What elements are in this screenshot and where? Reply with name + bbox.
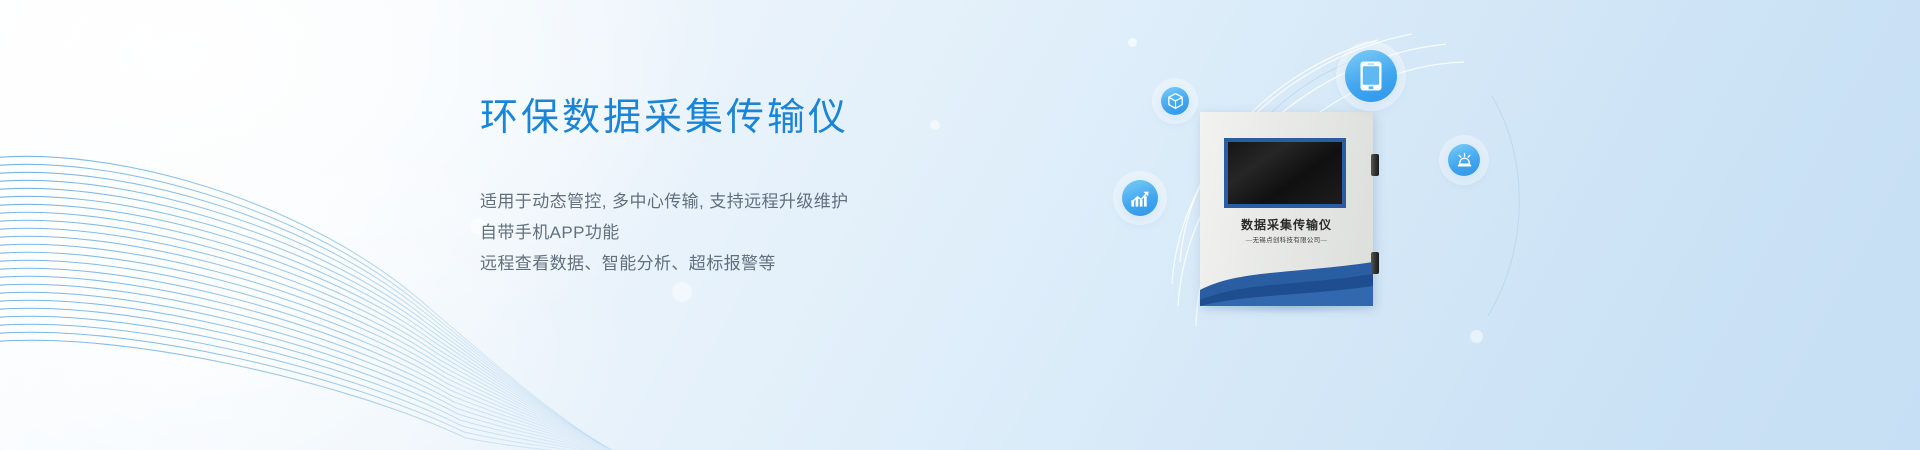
smartphone-icon [1360,61,1382,91]
device-brand-label: 数据采集传输仪 [1200,216,1373,233]
data-acquisition-device: 数据采集传输仪 —无锡点创科技有限公司— [1200,112,1373,306]
feature-bullet-1: 适用于动态管控, 多中心传输, 支持远程升级维护 [480,186,1000,217]
alarm-siren-icon [1456,152,1473,169]
device-enclosure: 数据采集传输仪 —无锡点创科技有限公司— [1200,112,1373,306]
product-hero-banner: 环保数据采集传输仪 适用于动态管控, 多中心传输, 支持远程升级维护 自带手机A… [0,0,1920,450]
feature-bullet-list: 适用于动态管控, 多中心传输, 支持远程升级维护 自带手机APP功能 远程查看数… [480,186,1000,279]
product-visual-area: 数据采集传输仪 —无锡点创科技有限公司— [1060,0,1620,450]
hero-copy-block: 环保数据采集传输仪 适用于动态管控, 多中心传输, 支持远程升级维护 自带手机A… [480,96,1000,279]
badge-device-cube[interactable] [1161,87,1189,115]
device-company-label: —无锡点创科技有限公司— [1200,234,1373,244]
feature-bullet-3: 远程查看数据、智能分析、超标报警等 [480,248,1000,279]
badge-overrun-alarm[interactable] [1448,144,1480,176]
device-screen [1228,142,1342,204]
page-title: 环保数据采集传输仪 [480,96,1000,142]
bar-chart-growth-icon [1130,189,1150,208]
bokeh-circle-2 [672,282,692,302]
device-latch-top [1371,154,1379,176]
badge-smartphone[interactable] [1345,50,1397,102]
badge-data-analysis[interactable] [1122,180,1158,216]
feature-bullet-2: 自带手机APP功能 [480,217,1000,248]
device-latch-bottom [1371,252,1379,274]
cube-box-icon [1168,93,1183,109]
device-screen-bezel [1224,138,1346,208]
device-base-wave-graphic [1200,260,1373,306]
